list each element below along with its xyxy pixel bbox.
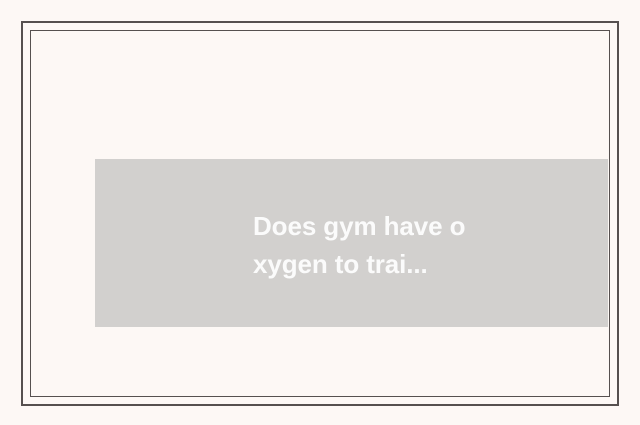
media-placeholder-panel[interactable]: Does gym have o xygen to trai... [95,159,608,327]
card-inner-frame: Does gym have o xygen to trai... [30,30,610,397]
bordered-card: Does gym have o xygen to trai... [21,21,619,406]
caption-line-1: Does gym have o [253,207,513,245]
caption-block: Does gym have o xygen to trai... [253,207,513,283]
caption-line-2: xygen to trai... [253,245,513,283]
